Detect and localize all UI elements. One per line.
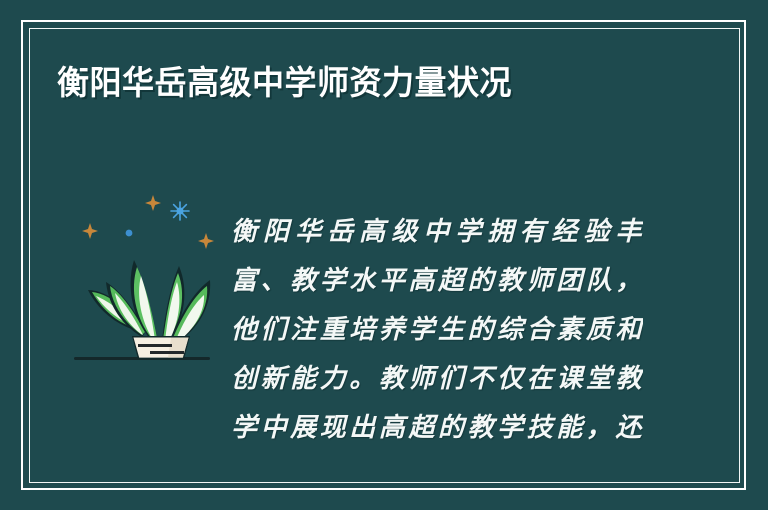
sparkle-star-orange-3 [198, 233, 214, 249]
body-paragraph: 衡阳华岳高级中学拥有经验丰富、教学水平高超的教师团队，他们注重培养学生的综合素质… [231, 207, 643, 457]
sparkle-snowflake-blue [171, 202, 189, 220]
sparkle-dot-blue-1 [126, 230, 133, 237]
sparkle-star-orange-1 [82, 223, 98, 239]
potted-plant-illustration [58, 190, 226, 365]
plant-pot [132, 336, 190, 359]
plant-leaves [88, 260, 210, 343]
page-title: 衡阳华岳高级中学师资力量状况 [57, 63, 512, 103]
poster-canvas: 衡阳华岳高级中学师资力量状况 [0, 0, 768, 510]
sparkle-star-orange-2 [145, 195, 161, 211]
